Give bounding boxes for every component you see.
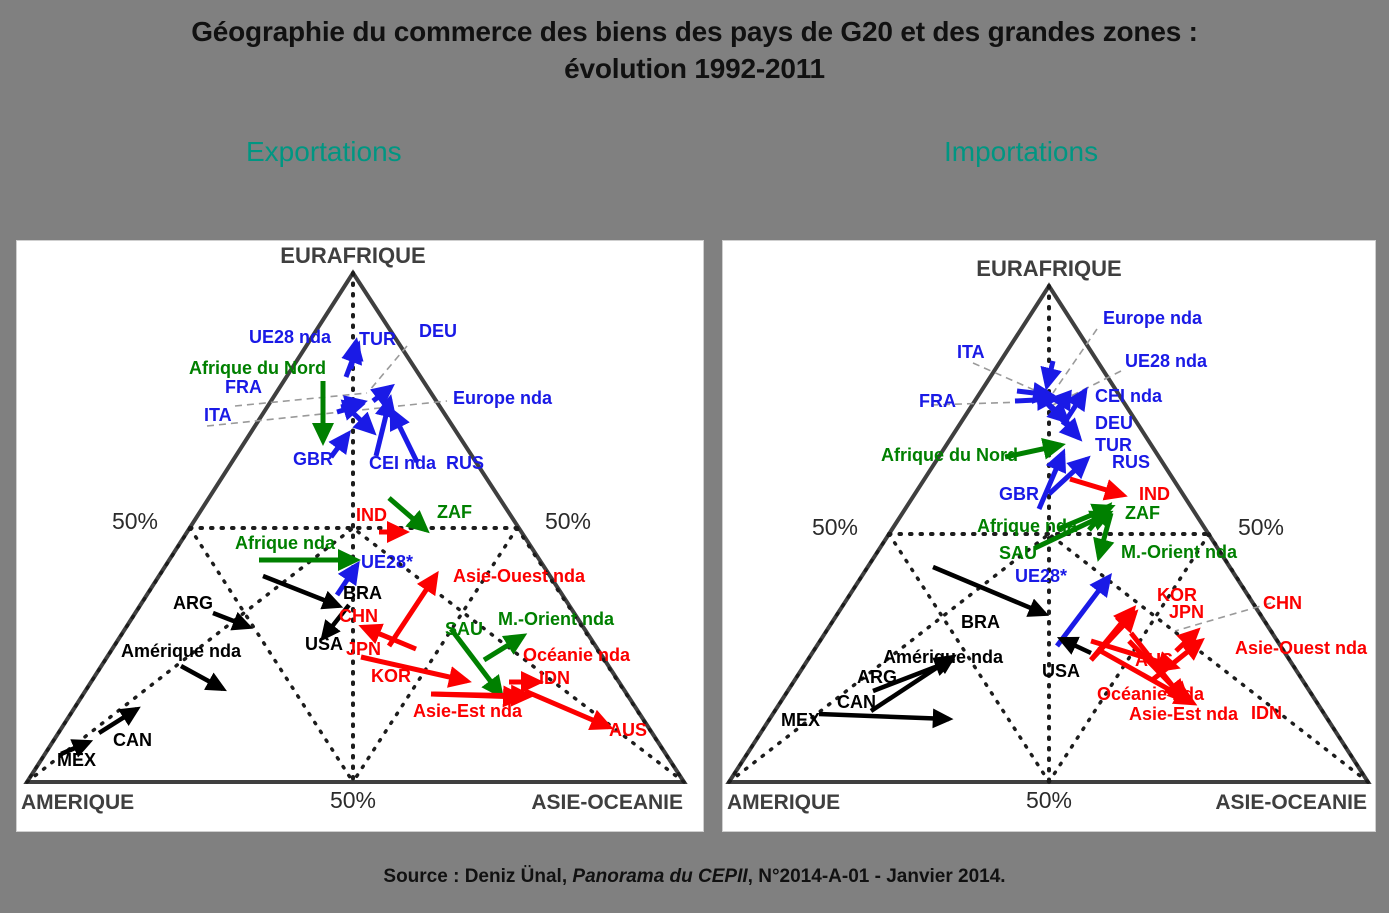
exports-ternary-panel: EURAFRIQUE AMERIQUE ASIE-OCEANIE 50% 50%…: [16, 240, 704, 832]
source-suffix: , N°2014-A-01 - Janvier 2014.: [748, 866, 1006, 887]
tick-left-50: 50%: [112, 508, 158, 534]
label-ue28-nda: UE28 nda: [249, 327, 332, 347]
axis-label-bottom-left: AMERIQUE: [727, 791, 840, 814]
axis-label-top: EURAFRIQUE: [280, 243, 425, 268]
label-rus: RUS: [446, 453, 484, 473]
label-ind: IND: [1139, 484, 1170, 504]
label-zaf: ZAF: [437, 502, 472, 522]
label-can: CAN: [113, 730, 152, 750]
label-chn: CHN: [339, 606, 378, 626]
label-rus: RUS: [1112, 452, 1150, 472]
label-fra: FRA: [919, 391, 956, 411]
label-kor: KOR: [371, 666, 411, 686]
tick-left-50: 50%: [812, 514, 858, 540]
label-morient-nda: M.-Orient nda: [1121, 542, 1238, 562]
label-oceanie-nda: Océanie nda: [523, 645, 631, 665]
tick-right-50: 50%: [1238, 514, 1284, 540]
label-sau: SAU: [999, 543, 1037, 563]
label-mex: MEX: [57, 750, 96, 770]
label-can: CAN: [837, 692, 876, 712]
axis-label-bottom-right: ASIE-OCEANIE: [531, 791, 683, 814]
exports-heading: Exportations: [246, 136, 402, 168]
imports-ternary-panel: EURAFRIQUE AMERIQUE ASIE-OCEANIE 50% 50%…: [722, 240, 1376, 832]
label-ue28-nda: UE28 nda: [1125, 351, 1208, 371]
label-aus: AUS: [1135, 650, 1173, 670]
label-europe-nda: Europe nda: [453, 388, 553, 408]
exports-ternary-svg: EURAFRIQUE AMERIQUE ASIE-OCEANIE 50% 50%…: [17, 241, 703, 831]
label-afrique-du-nord: Afrique du Nord: [881, 445, 1018, 465]
tick-right-50: 50%: [545, 508, 591, 534]
label-cei-nda: CEI nda: [369, 453, 437, 473]
tick-bottom-50: 50%: [1026, 787, 1072, 813]
label-sau: SAU: [445, 619, 483, 639]
label-asie-ouest-nda: Asie-Ouest nda: [453, 566, 586, 586]
label-idn: IDN: [539, 668, 570, 688]
label-amerique-nda: Amérique nda: [121, 641, 242, 661]
label-zaf: ZAF: [1125, 503, 1160, 523]
label-afrique-du-nord: Afrique du Nord: [189, 358, 326, 378]
source-italic: Panorama du CEPII: [572, 866, 747, 887]
label-gbr: GBR: [293, 449, 333, 469]
label-arg: ARG: [857, 667, 897, 687]
label-ita: ITA: [957, 342, 985, 362]
label-morient-nda: M.-Orient nda: [498, 609, 615, 629]
imports-ternary-svg: EURAFRIQUE AMERIQUE ASIE-OCEANIE 50% 50%…: [723, 241, 1375, 831]
label-asie-est-nda: Asie-Est nda: [1129, 704, 1239, 724]
label-idn: IDN: [1251, 703, 1282, 723]
label-afrique-nda: Afrique nda: [235, 533, 336, 553]
axis-label-top: EURAFRIQUE: [976, 256, 1121, 281]
label-deu: DEU: [419, 321, 457, 341]
title-line-2: évolution 1992-2011: [0, 51, 1389, 88]
label-afrique-nda: Afrique nda: [977, 516, 1078, 536]
label-bra: BRA: [343, 583, 382, 603]
label-ind: IND: [356, 505, 387, 525]
label-ue28-star: UE28*: [361, 552, 413, 572]
label-fra: FRA: [225, 377, 262, 397]
label-asie-est-nda: Asie-Est nda: [413, 701, 523, 721]
tick-bottom-50: 50%: [330, 787, 376, 813]
label-oceanie-nda: Océanie nda: [1097, 684, 1205, 704]
source-note: Source : Deniz Ünal, Panorama du CEPII, …: [0, 866, 1389, 888]
label-tur: TUR: [359, 329, 396, 349]
label-ue28-star: UE28*: [1015, 566, 1067, 586]
label-jpn: JPN: [346, 639, 381, 659]
label-gbr: GBR: [999, 484, 1039, 504]
label-arg: ARG: [173, 593, 213, 613]
label-cei-nda: CEI nda: [1095, 386, 1163, 406]
axis-label-bottom-right: ASIE-OCEANIE: [1215, 791, 1367, 814]
page-title: Géographie du commerce des biens des pay…: [0, 14, 1389, 88]
label-mex: MEX: [781, 710, 820, 730]
label-usa: USA: [1042, 661, 1080, 681]
label-deu: DEU: [1095, 413, 1133, 433]
label-jpn: JPN: [1169, 602, 1204, 622]
title-line-1: Géographie du commerce des biens des pay…: [0, 14, 1389, 51]
label-aus: AUS: [609, 720, 647, 740]
label-europe-nda: Europe nda: [1103, 308, 1203, 328]
label-ita: ITA: [204, 405, 232, 425]
source-prefix: Source : Deniz Ünal,: [383, 866, 572, 887]
label-amerique-nda: Amérique nda: [883, 647, 1004, 667]
label-asie-ouest-nda: Asie-Ouest nda: [1235, 638, 1368, 658]
imports-heading: Importations: [944, 136, 1098, 168]
label-chn: CHN: [1263, 593, 1302, 613]
label-bra: BRA: [961, 612, 1000, 632]
label-usa: USA: [305, 634, 343, 654]
axis-label-bottom-left: AMERIQUE: [21, 791, 134, 814]
